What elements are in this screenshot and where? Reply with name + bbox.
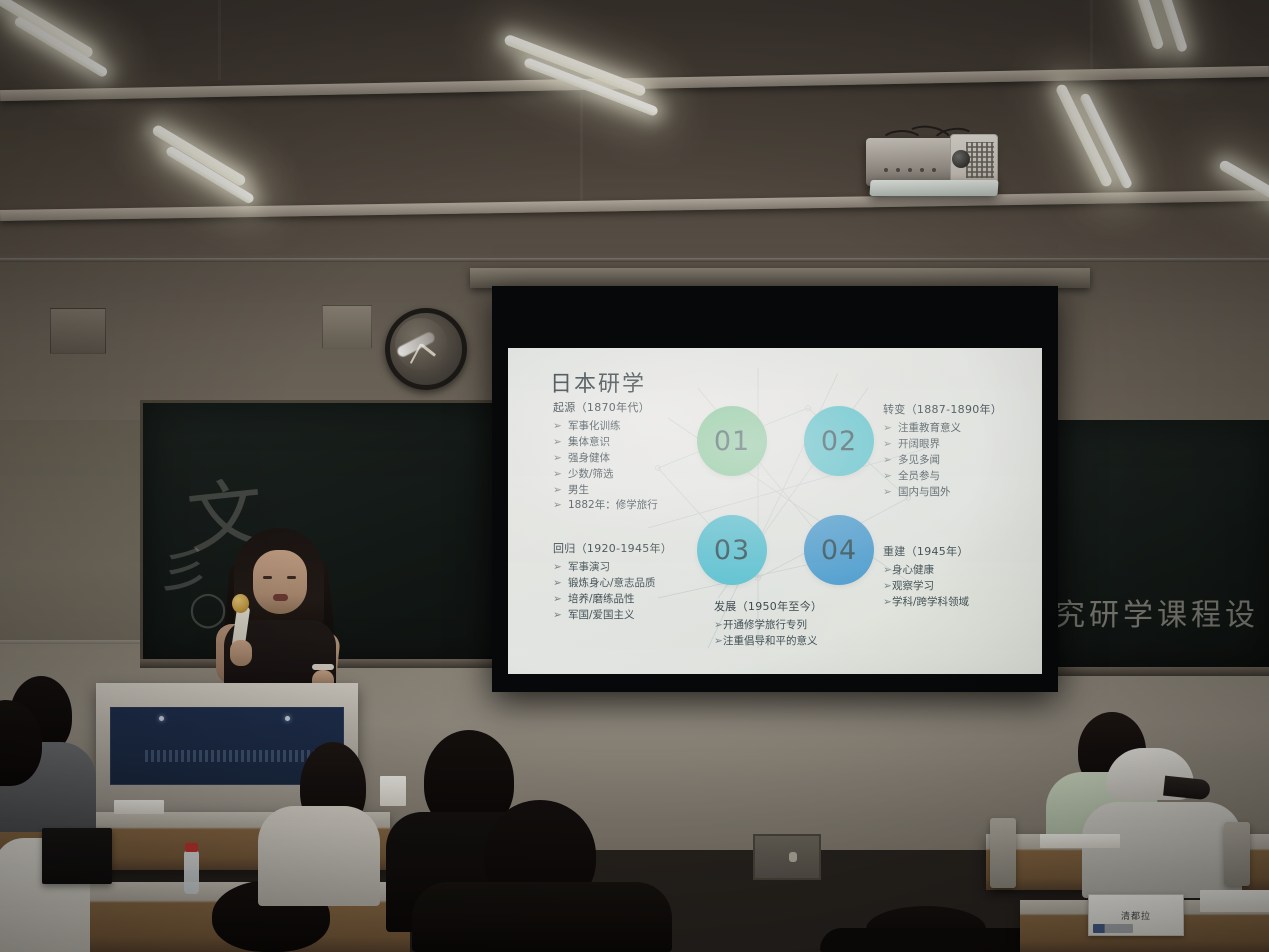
audience-torso (1082, 802, 1242, 898)
desk-paper (1040, 834, 1120, 848)
bullet-arrow-icon: ➢ (553, 608, 568, 624)
slide-circle-01: 01 (697, 406, 767, 476)
circle-number: 01 (714, 426, 750, 457)
slide-bullet-item: ➢开通修学旅行专列 (714, 618, 822, 634)
bullet-arrow-icon: ➢ (883, 469, 898, 485)
projection-screen: 日本研学 01 02 03 04 起源（1870年代）➢军事化训练➢集体意识➢强… (492, 286, 1058, 692)
wall-clock (385, 308, 467, 390)
wall-speaker-box (50, 308, 106, 354)
slide-circle-02: 02 (804, 406, 874, 476)
slide-bullet-item: ➢多见多闻 (883, 453, 1002, 469)
slide-group-heading: 重建（1945年） (883, 544, 969, 561)
bullet-arrow-icon: ➢ (883, 579, 892, 595)
bullet-arrow-icon: ➢ (883, 437, 898, 453)
projector-mount (869, 180, 998, 196)
slide-bullet-item: ➢注重教育意义 (883, 421, 1002, 437)
slide-circle-03: 03 (697, 515, 767, 585)
wall-access-panel (753, 834, 821, 880)
audience-torso (412, 882, 672, 952)
presentation-slide: 日本研学 01 02 03 04 起源（1870年代）➢军事化训练➢集体意识➢强… (508, 348, 1042, 674)
bullet-arrow-icon: ➢ (553, 560, 568, 576)
chalkboard-right: 究研学课程设 (1048, 420, 1269, 670)
slide-bullet-item: ➢男生 (553, 483, 658, 499)
slide-group-origin: 起源（1870年代）➢军事化训练➢集体意识➢强身健体➢少数/筛选➢男生➢1882… (553, 400, 658, 514)
bullet-arrow-icon: ➢ (553, 592, 568, 608)
bullet-arrow-icon: ➢ (553, 576, 568, 592)
slide-group-heading: 起源（1870年代） (553, 400, 658, 417)
desk-paper (114, 800, 164, 814)
slide-bullet-item: ➢锻炼身心/意志品质 (553, 576, 672, 592)
bullet-arrow-icon: ➢ (883, 595, 892, 611)
microphone-head (232, 594, 249, 613)
ceiling-projector (866, 128, 1014, 204)
slide-bullet-item: ➢少数/筛选 (553, 467, 658, 483)
slide-bullet-item: ➢国内与国外 (883, 485, 1002, 501)
presenter (196, 528, 368, 693)
screen-mount-bar (470, 268, 1090, 288)
bottle-cap (185, 843, 198, 852)
audience-torso (820, 928, 1040, 952)
slide-bullet-item: ➢集体意识 (553, 435, 658, 451)
slide-bullet-item: ➢军事化训练 (553, 419, 658, 435)
slide-group-heading: 发展（1950年至今） (714, 599, 822, 616)
chalk-rail (1048, 667, 1269, 676)
laptop (42, 828, 112, 884)
bullet-arrow-icon: ➢ (553, 419, 568, 435)
bullet-arrow-icon: ➢ (883, 453, 898, 469)
slide-bullet-item: ➢全员参与 (883, 469, 1002, 485)
audience-torso (258, 806, 380, 906)
seat-back (990, 818, 1016, 888)
projector-lens (952, 150, 970, 168)
slide-bullet-item: ➢学科/跨学科领域 (883, 595, 969, 611)
water-bottle (184, 850, 199, 894)
desk-paper (380, 776, 406, 806)
presenter-face (253, 550, 307, 614)
slide-bullet-item: ➢注重倡导和平的意义 (714, 634, 822, 650)
placard-text: 清都拉 (1121, 909, 1151, 922)
bullet-arrow-icon: ➢ (714, 634, 723, 650)
slide-bullet-item: ➢开阔眼界 (883, 437, 1002, 453)
bullet-arrow-icon: ➢ (883, 485, 898, 501)
circle-number: 04 (821, 535, 857, 566)
bullet-arrow-icon: ➢ (883, 563, 892, 579)
slide-group-development: 发展（1950年至今）➢开通修学旅行专列➢注重倡导和平的意义 (714, 599, 822, 650)
bullet-arrow-icon: ➢ (553, 451, 568, 467)
slide-title: 日本研学 (550, 366, 646, 398)
lecture-hall-photo: 文 彡 ◯ 究研学课程设 (0, 0, 1269, 952)
slide-bullet-item: ➢军事演习 (553, 560, 672, 576)
slide-group-transformation: 转变（1887-1890年）➢注重教育意义➢开阔眼界➢多见多闻➢全员参与➢国内与… (883, 402, 1002, 500)
slide-bullet-item: ➢1882年：修学旅行 (553, 498, 658, 514)
slide-group-heading: 转变（1887-1890年） (883, 402, 1002, 419)
presenter-hand (230, 640, 252, 666)
presenter-mouth (273, 594, 288, 601)
slide-bullet-item: ➢强身健体 (553, 451, 658, 467)
slide-bullet-item: ➢培养/磨练品性 (553, 592, 672, 608)
lectern-panel-labels (145, 750, 315, 762)
placard-logo (1093, 924, 1133, 933)
bullet-arrow-icon: ➢ (553, 498, 568, 514)
bullet-arrow-icon: ➢ (553, 467, 568, 483)
circle-number: 02 (821, 426, 857, 457)
wall-seam (0, 258, 1269, 262)
bullet-arrow-icon: ➢ (714, 618, 723, 634)
seat-back (1224, 822, 1250, 886)
slide-bullet-item: ➢军国/爱国主义 (553, 608, 672, 624)
slide-bullet-item: ➢身心健康 (883, 563, 969, 579)
name-placard: 清都拉 (1088, 894, 1184, 936)
slide-group-regression: 回归（1920-1945年）➢军事演习➢锻炼身心/意志品质➢培养/磨练品性➢军国… (553, 541, 672, 624)
slide-bullet-item: ➢观察学习 (883, 579, 969, 595)
bullet-arrow-icon: ➢ (883, 421, 898, 437)
slide-group-reconstruction: 重建（1945年）➢身心健康➢观察学习➢学科/跨学科领域 (883, 544, 969, 611)
desk-paper (1200, 890, 1269, 912)
access-panel-knob (789, 852, 797, 862)
circle-number: 03 (714, 535, 750, 566)
wall-control-box (322, 305, 372, 349)
chalk-writing: 究研学课程设 (1055, 590, 1259, 634)
slide-group-heading: 回归（1920-1945年） (553, 541, 672, 558)
slide-circle-04: 04 (804, 515, 874, 585)
projector-vent-grille (966, 142, 994, 178)
bullet-arrow-icon: ➢ (553, 483, 568, 499)
bullet-arrow-icon: ➢ (553, 435, 568, 451)
